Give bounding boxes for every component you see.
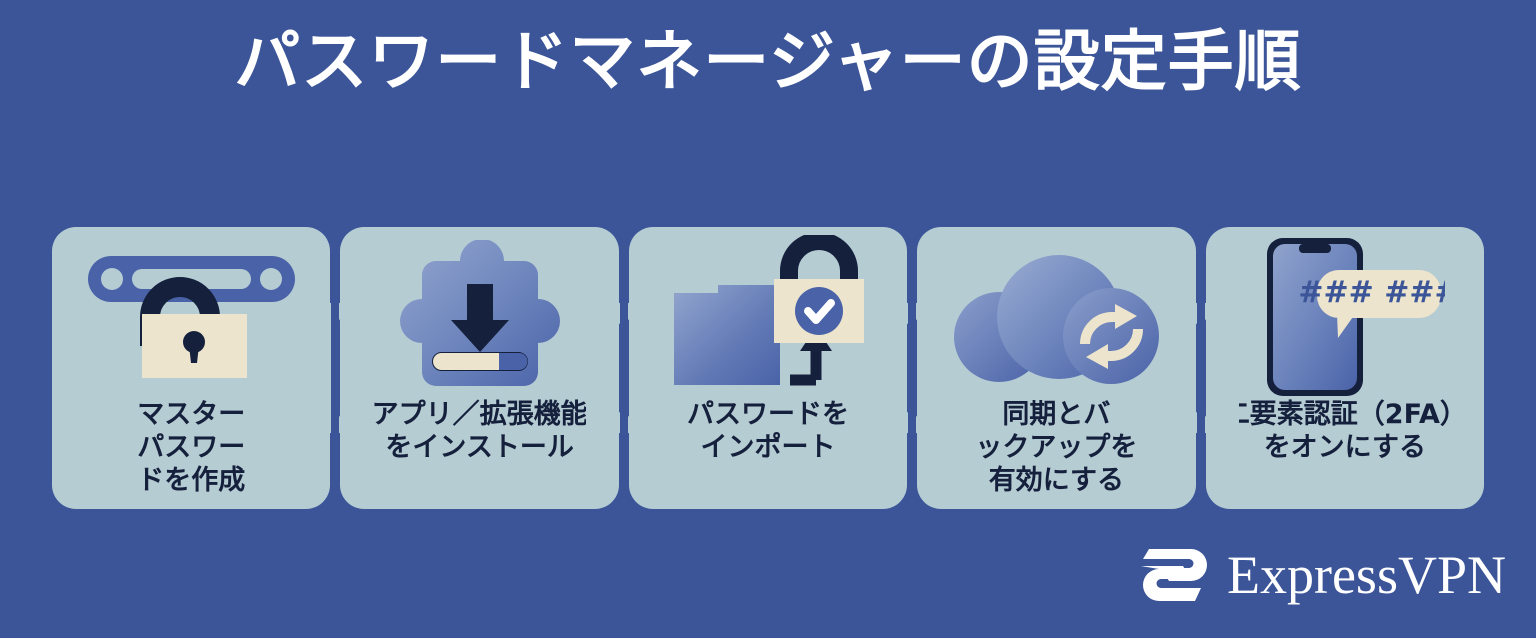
step-2-icon-area <box>340 227 618 399</box>
step-card-5[interactable]: ### ### 二要素認証（2FA） をオンにする <box>1206 227 1484 509</box>
step-1-icon-area <box>52 227 330 399</box>
otp-bubble-text: ### ### <box>1298 275 1445 310</box>
steps-row: マスター パスワー ドを作成 <box>52 227 1484 509</box>
step-card-3[interactable]: パスワードを インポート <box>629 227 907 509</box>
step-4-icon-area <box>917 227 1195 399</box>
step-5-label: 二要素認証（2FA） をオンにする <box>1215 399 1475 465</box>
expressvpn-logo-icon <box>1139 544 1211 606</box>
step-3-label: パスワードを インポート <box>679 399 857 465</box>
step-1-label: マスター パスワー ドを作成 <box>129 399 253 498</box>
step-3-icon-area <box>629 227 907 399</box>
password-bar-padlock-icon <box>84 250 299 382</box>
cloud-sync-icon <box>951 245 1161 387</box>
phone-otp-bubble-icon: ### ### <box>1245 234 1445 398</box>
puzzle-piece-download-icon <box>391 240 569 392</box>
step-card-1[interactable]: マスター パスワー ドを作成 <box>52 227 330 509</box>
step-card-4[interactable]: 同期とバ ックアップを 有効にする <box>917 227 1195 509</box>
folder-padlock-check-icon <box>668 235 868 397</box>
brand-logo: ExpressVPN <box>1139 544 1506 606</box>
step-4-label: 同期とバ ックアップを 有効にする <box>967 399 1145 498</box>
infographic-root: パスワードマネージャーの設定手順 <box>0 0 1536 638</box>
step-5-icon-area: ### ### <box>1206 227 1484 399</box>
page-title: パスワードマネージャーの設定手順 <box>0 26 1536 99</box>
step-card-2[interactable]: アプリ／拡張機能 をインストール <box>340 227 618 509</box>
step-2-label: アプリ／拡張機能 をインストール <box>364 399 596 465</box>
brand-name: ExpressVPN <box>1227 548 1506 602</box>
